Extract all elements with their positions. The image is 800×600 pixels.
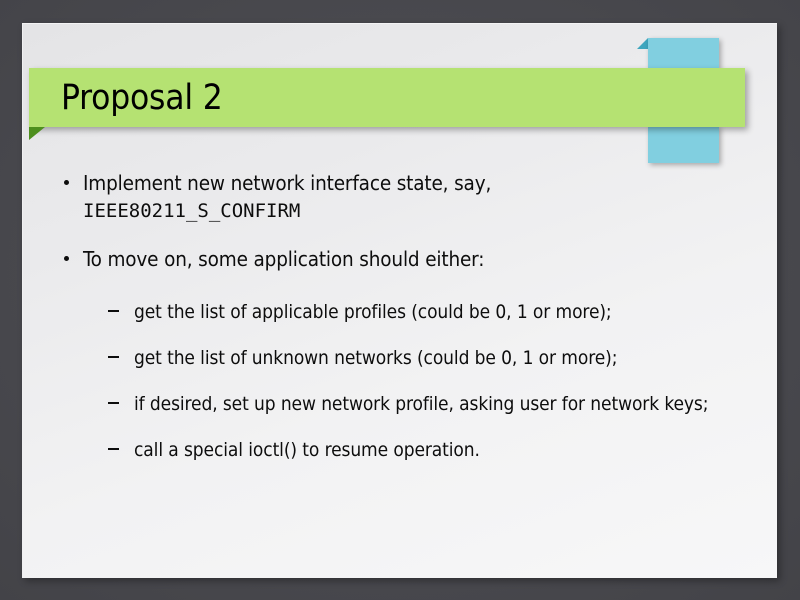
bullet-code-text: IEEE80211_S_CONFIRM (83, 197, 781, 225)
list-item: Implement new network interface state, s… (61, 169, 781, 225)
sub-bullet-text: if desired, set up new network profile, … (134, 393, 708, 415)
list-item: To move on, some application should eith… (61, 245, 781, 273)
bullet-dot-icon (64, 180, 69, 185)
bullet-dash-icon (108, 310, 119, 312)
sub-bullet-list: get the list of applicable profiles (cou… (61, 299, 781, 463)
title-banner: Proposal 2 (29, 68, 745, 127)
sub-bullet-text: get the list of applicable profiles (cou… (134, 301, 612, 323)
bullet-dash-icon (108, 402, 119, 404)
bullet-text: To move on, some application should eith… (83, 247, 484, 271)
slide-canvas: Proposal 2 Implement new network interfa… (22, 23, 777, 578)
sub-bullet-text: call a special ioctl() to resume operati… (134, 439, 480, 461)
list-item: call a special ioctl() to resume operati… (108, 437, 781, 463)
blue-accent-band-bottom (648, 126, 719, 163)
sub-bullet-text: get the list of unknown networks (could … (134, 347, 617, 369)
slide-title: Proposal 2 (61, 78, 223, 118)
blue-band-fold-icon (637, 38, 648, 49)
bullet-dash-icon (108, 356, 119, 358)
presentation-backdrop: Proposal 2 Implement new network interfa… (0, 0, 800, 600)
blue-accent-band-top (648, 38, 719, 69)
list-item: if desired, set up new network profile, … (108, 391, 781, 417)
bullet-dash-icon (108, 448, 119, 450)
slide-body: Implement new network interface state, s… (61, 169, 781, 483)
bullet-text: Implement new network interface state, s… (83, 171, 491, 195)
list-item: get the list of unknown networks (could … (108, 345, 781, 371)
list-item: get the list of applicable profiles (cou… (108, 299, 781, 325)
title-banner-fold-icon (29, 127, 45, 140)
bullet-dot-icon (64, 256, 69, 261)
